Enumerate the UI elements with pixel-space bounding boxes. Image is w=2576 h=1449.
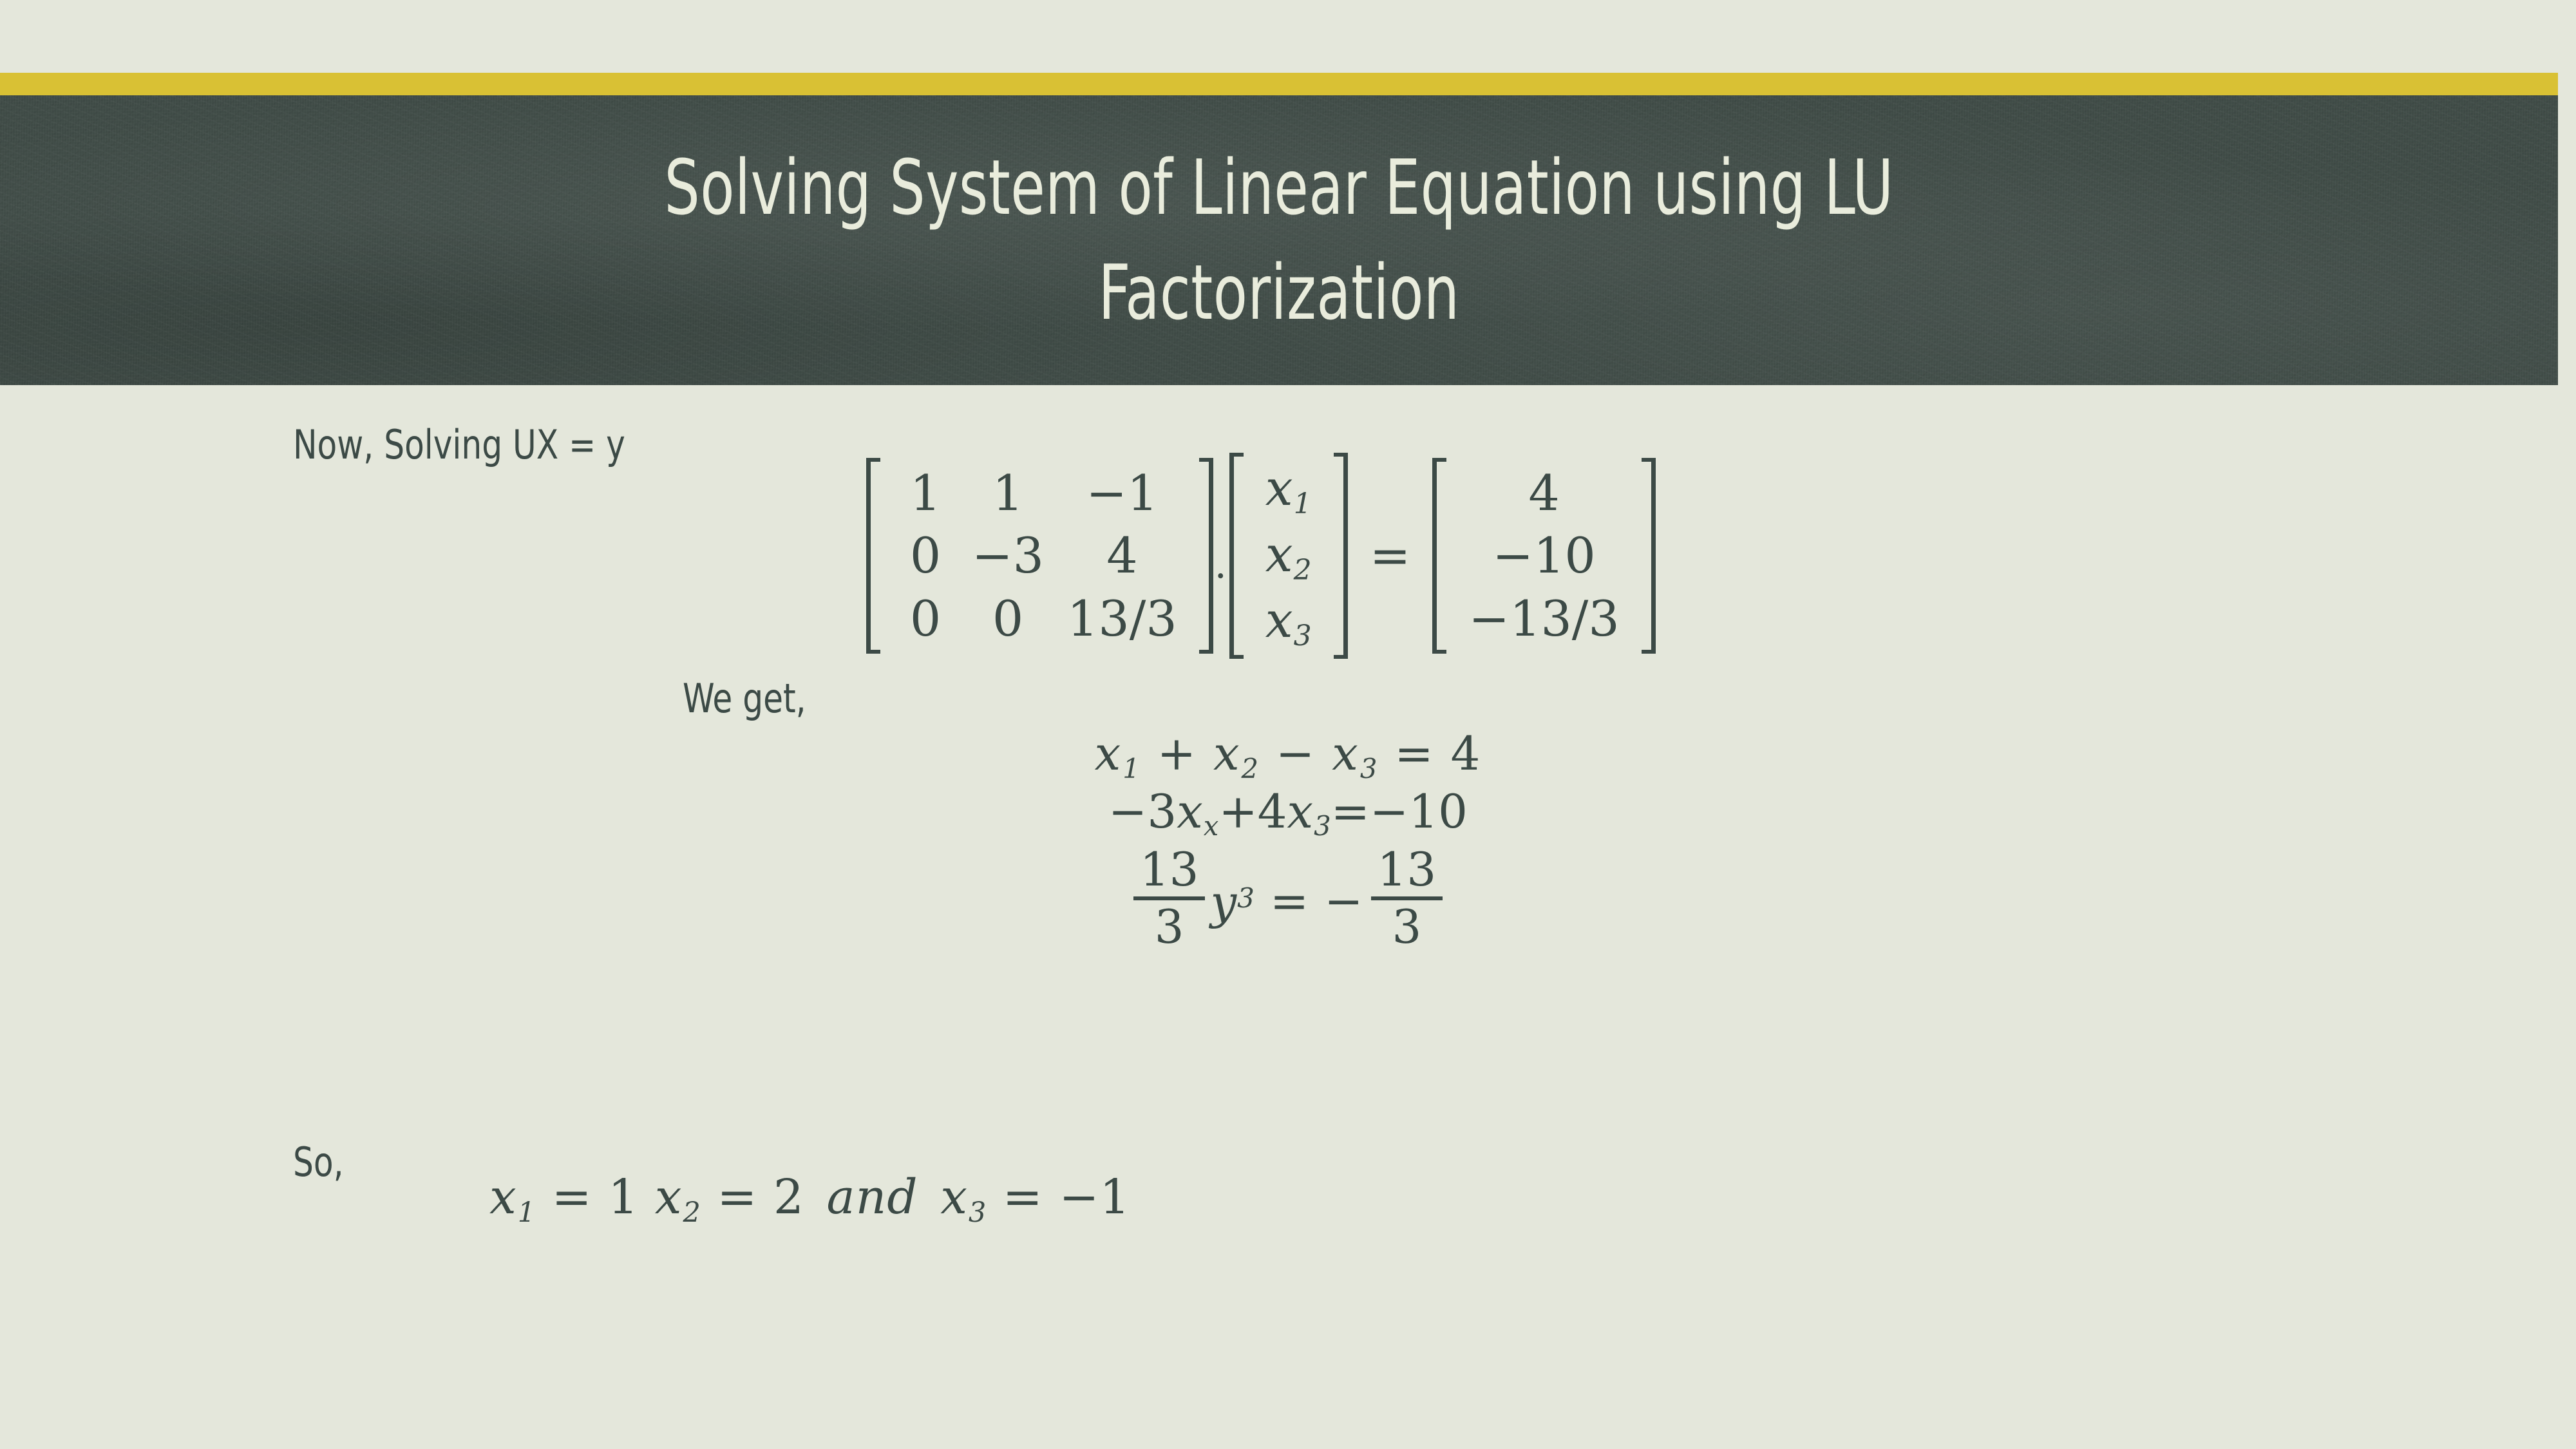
equals-operator: = — [552, 1170, 592, 1225]
rhs-value: −10 — [1370, 784, 1468, 838]
solution-value: 1 — [608, 1170, 639, 1225]
lead-text-so: So, — [293, 1139, 344, 1186]
variable-subscript: 2 — [1242, 753, 1260, 784]
matrix-cell: x1 — [1254, 457, 1323, 523]
equals-operator: = — [1394, 726, 1434, 781]
bracket-right-icon — [1199, 458, 1213, 654]
variable-symbol: x — [1287, 784, 1313, 838]
fraction-denominator: 3 — [1148, 904, 1191, 951]
unknown-vector: x1 x2 x3 — [1229, 453, 1348, 659]
matrix-cell: −10 — [1457, 524, 1631, 587]
operator: + — [1157, 726, 1197, 781]
matrix-cell: x2 — [1254, 523, 1323, 589]
matrix-cell: 0 — [891, 524, 960, 587]
equation-line-3: 13 3 y3 = − 13 3 — [0, 846, 2576, 951]
variable-subscript: 1 — [1122, 753, 1141, 784]
matrix-cell: 1 — [960, 462, 1056, 524]
variable-subscript: x — [1204, 810, 1219, 842]
fraction-numerator: 13 — [1133, 846, 1206, 893]
bracket-left-icon — [1229, 453, 1244, 659]
variable-symbol: x — [1177, 784, 1203, 838]
variable-subscript: 2 — [1294, 554, 1312, 587]
fraction-rhs: 13 3 — [1371, 846, 1443, 951]
matrix-cell: 0 — [891, 587, 960, 650]
equation-line-2: −3xx+4x3=−10 — [0, 784, 2576, 842]
rhs-value: 4 — [1451, 726, 1482, 781]
matrix-cell: −13/3 — [1457, 587, 1631, 650]
operator: + — [1218, 784, 1257, 838]
coefficient-matrix: 1 1 −1 0 −3 4 0 0 13/3 — [866, 458, 1213, 654]
rhs-vector: 4 −10 −13/3 — [1432, 458, 1655, 654]
bracket-left-icon — [866, 458, 880, 654]
matrix-cell: x3 — [1254, 589, 1323, 655]
equals-operator: = — [1348, 527, 1433, 584]
matrix-cell: 1 — [891, 462, 960, 524]
equation-line-1: x1 + x2 − x3 = 4 — [0, 726, 2576, 784]
variable-subscript: 3 — [1360, 753, 1379, 784]
bracket-left-icon — [1432, 458, 1446, 654]
title-banner: Solving System of Linear Equation using … — [0, 95, 2558, 385]
matrix-cell: 0 — [960, 587, 1056, 650]
matrix-cell: 4 — [1457, 462, 1631, 524]
equals-operator: = — [1003, 1170, 1043, 1225]
equals-operator: = — [717, 1170, 757, 1225]
variable-symbol: x — [1265, 459, 1293, 516]
variable-symbol: y — [1210, 875, 1236, 930]
equals-operator: = — [1331, 784, 1370, 838]
lead-text-we-get: We get, — [683, 675, 806, 722]
variable-symbol: x — [1095, 726, 1122, 781]
variable-subscript: 1 — [518, 1197, 536, 1229]
scalar-equations-block: x1 + x2 − x3 = 4 −3xx+4x3=−10 13 3 y3 = … — [0, 726, 2576, 951]
equals-operator: = — [1270, 874, 1309, 929]
variable-symbol: x — [1265, 526, 1293, 583]
matrix-cell: 13/3 — [1056, 587, 1189, 650]
variable-symbol: x — [1265, 591, 1293, 649]
fraction-numerator: 13 — [1371, 846, 1443, 893]
variable-subscript: 2 — [683, 1197, 701, 1229]
matrix-cell: −1 — [1056, 462, 1189, 524]
slide-body: Now, Solving UX = y 1 1 −1 0 −3 4 0 0 13… — [0, 385, 2576, 1449]
page-title-line-1: Solving System of Linear Equation using … — [664, 135, 1893, 240]
lead-text-now-solving: Now, Solving UX = y — [293, 421, 625, 468]
matrix-cell: −3 — [960, 524, 1056, 587]
coefficient: 4 — [1258, 784, 1287, 838]
negative-sign: − — [1324, 874, 1363, 929]
bracket-right-icon — [1334, 453, 1348, 659]
solution-value: 2 — [773, 1170, 804, 1225]
operator: − — [1276, 726, 1316, 781]
variable-symbol: x — [655, 1170, 683, 1225]
variable-symbol: x — [1332, 726, 1359, 781]
variable-subscript: 3 — [969, 1197, 987, 1229]
solution-value: −1 — [1059, 1170, 1130, 1225]
page-title-line-2: Factorization — [1099, 240, 1460, 345]
fraction-denominator: 3 — [1385, 904, 1428, 951]
slide-canvas: Solving System of Linear Equation using … — [0, 0, 2576, 1449]
variable-symbol: x — [940, 1170, 968, 1225]
multiply-operator: . — [1213, 542, 1229, 587]
matrix-cell: 4 — [1056, 524, 1189, 587]
matrix-equation: 1 1 −1 0 −3 4 0 0 13/3 . x1 x2 x — [866, 453, 1656, 659]
title-accent-bar — [0, 73, 2558, 95]
fraction-lhs: 13 3 — [1133, 846, 1206, 951]
final-answer: x1 = 1 x2 = 2 and x3 = −1 — [489, 1170, 1130, 1229]
bracket-right-icon — [1642, 458, 1656, 654]
variable-subscript: 3 — [1294, 620, 1312, 652]
coefficient: −3 — [1108, 784, 1177, 838]
variable-symbol: x — [1213, 726, 1241, 781]
variable-symbol: x — [489, 1170, 517, 1225]
variable-subscript: 3 — [1314, 810, 1331, 842]
variable-subscript: 3 — [1237, 882, 1255, 914]
and-connector: and — [827, 1170, 918, 1225]
variable-subscript: 1 — [1294, 488, 1312, 520]
